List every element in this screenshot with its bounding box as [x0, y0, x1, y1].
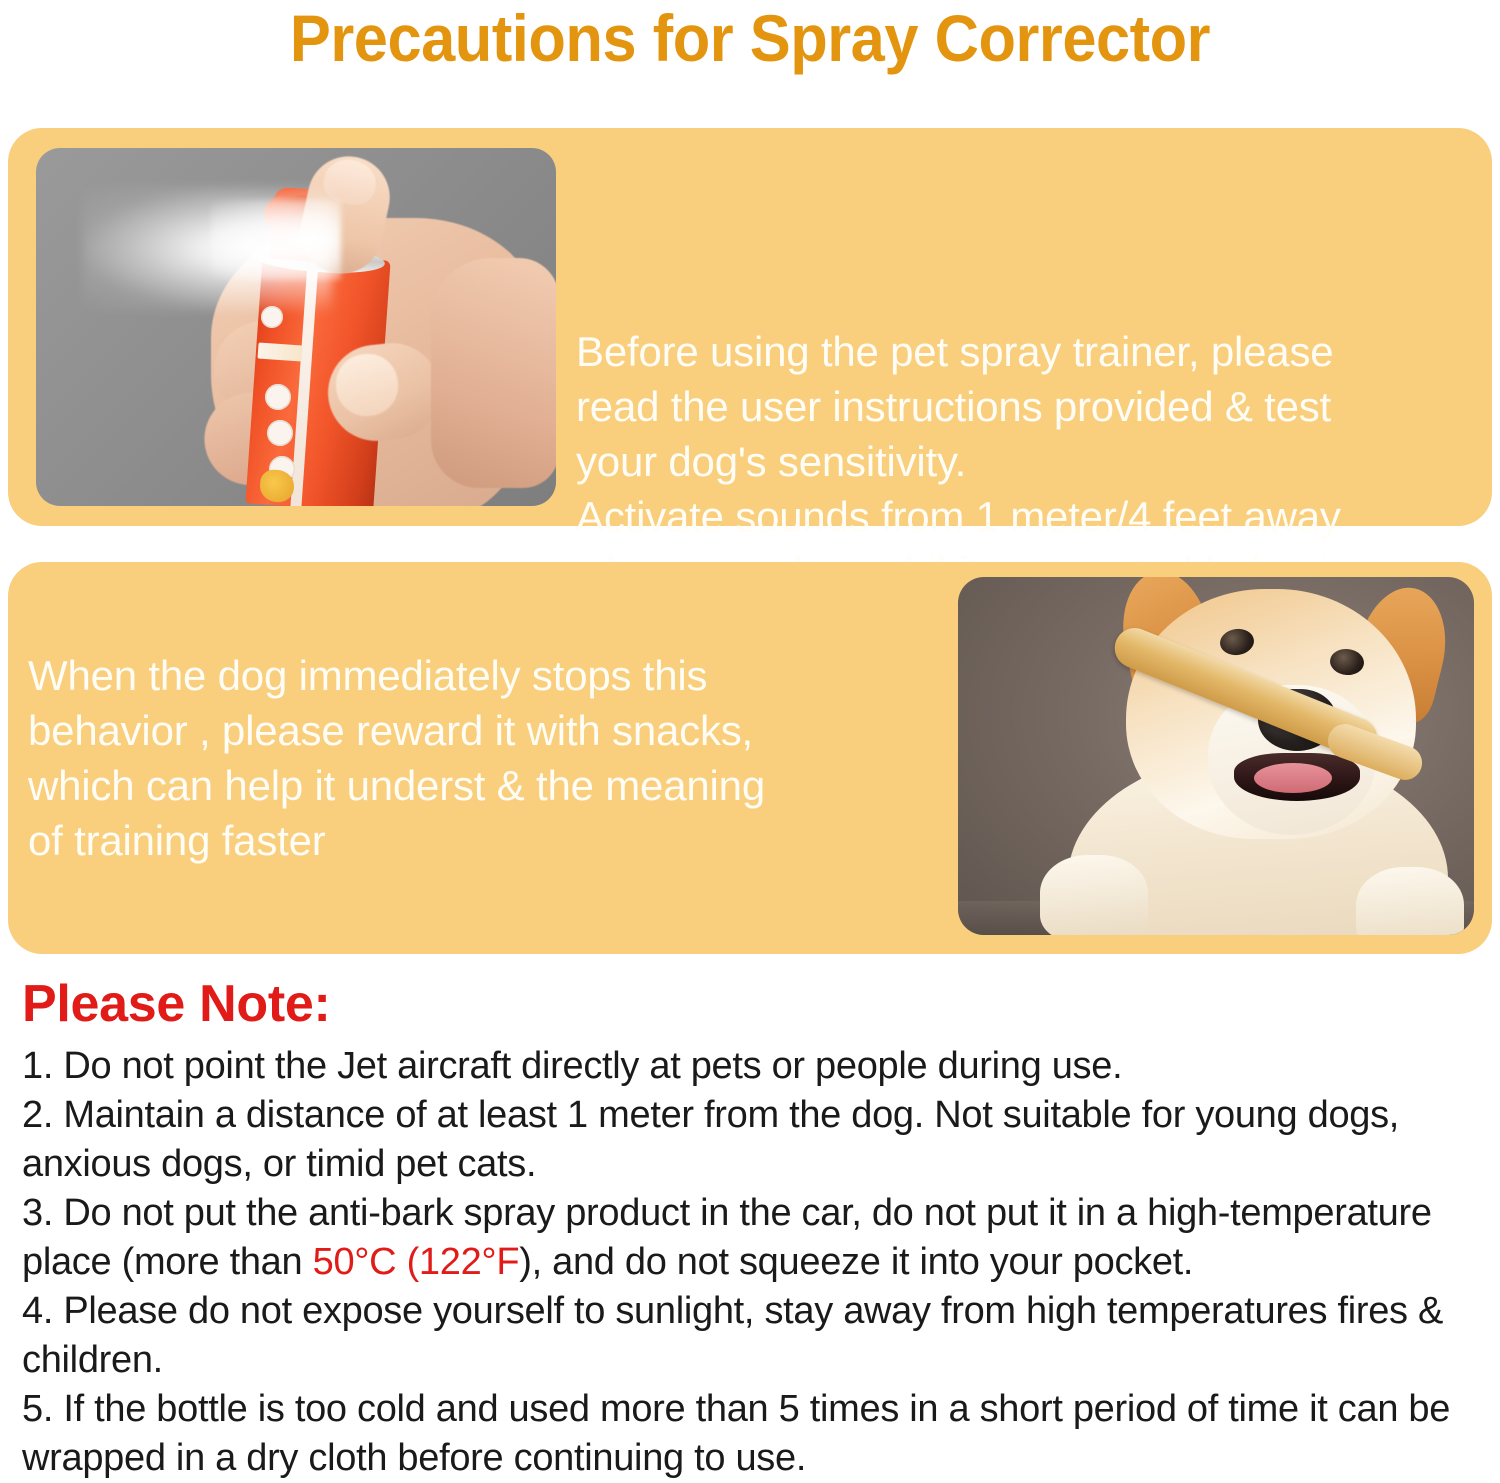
- temperature-highlight: 50°C (122°F: [313, 1241, 520, 1283]
- note-item-3-text-pre: place (more than: [22, 1241, 313, 1283]
- note-item-3-line-1: 3. Do not put the anti-bark spray produc…: [22, 1189, 1488, 1238]
- card-one-text-block: Before using the pet spray trainer, plea…: [576, 324, 1476, 599]
- precaution-card-one: Before using the pet spray trainer, plea…: [8, 128, 1492, 526]
- card-one-line-1: Before using the pet spray trainer, plea…: [576, 324, 1476, 379]
- thumb-shape: [431, 258, 556, 488]
- card-two-text-block: When the dog immediately stops this beha…: [28, 648, 908, 868]
- please-note-heading: Please Note:: [22, 976, 331, 1033]
- note-item-2-line-1: 2. Maintain a distance of at least 1 met…: [22, 1091, 1488, 1140]
- note-item-4-line-1: 4. Please do not expose yourself to sunl…: [22, 1287, 1488, 1336]
- card-one-line-3: your dog's sensitivity.: [576, 434, 1476, 489]
- card-two-line-1: When the dog immediately stops this: [28, 648, 908, 703]
- note-item-3-line-2: place (more than 50°C (122°F), and do no…: [22, 1238, 1488, 1287]
- note-item-3-text-post: ), and do not squeeze it into your pocke…: [519, 1241, 1193, 1283]
- hand-holding-spray-can-photo: [36, 148, 556, 506]
- note-item-5-line-2: wrapped in a dry cloth before continuing…: [22, 1434, 1488, 1483]
- page-title: Precautions for Spray Corrector: [53, 2, 1448, 76]
- dog-tongue-shape: [1254, 763, 1332, 793]
- card-one-line-4: Activate sounds from 1 meter/4 feet away: [576, 489, 1476, 544]
- card-two-line-3: which can help it underst & the meaning: [28, 758, 908, 813]
- note-item-5-line-1: 5. If the bottle is too cold and used mo…: [22, 1385, 1488, 1434]
- spray-mist-core: [211, 200, 341, 280]
- note-item-2-line-2: anxious dogs, or timid pet cats.: [22, 1140, 1488, 1189]
- note-item-4-line-2: children.: [22, 1336, 1488, 1385]
- notes-list: 1. Do not point the Jet aircraft directl…: [22, 1042, 1488, 1483]
- corgi-dog-chewing-treat-photo: [958, 577, 1474, 935]
- dog-paw-left: [1040, 855, 1148, 935]
- spray-can-band: [257, 342, 302, 361]
- card-two-line-4: of training faster: [28, 813, 908, 868]
- card-one-line-2: read the user instructions provided & te…: [576, 379, 1476, 434]
- card-two-line-2: behavior , please reward it with snacks,: [28, 703, 908, 758]
- note-item-1-line-1: 1. Do not point the Jet aircraft directl…: [22, 1042, 1488, 1091]
- dog-paw-right: [1356, 867, 1464, 935]
